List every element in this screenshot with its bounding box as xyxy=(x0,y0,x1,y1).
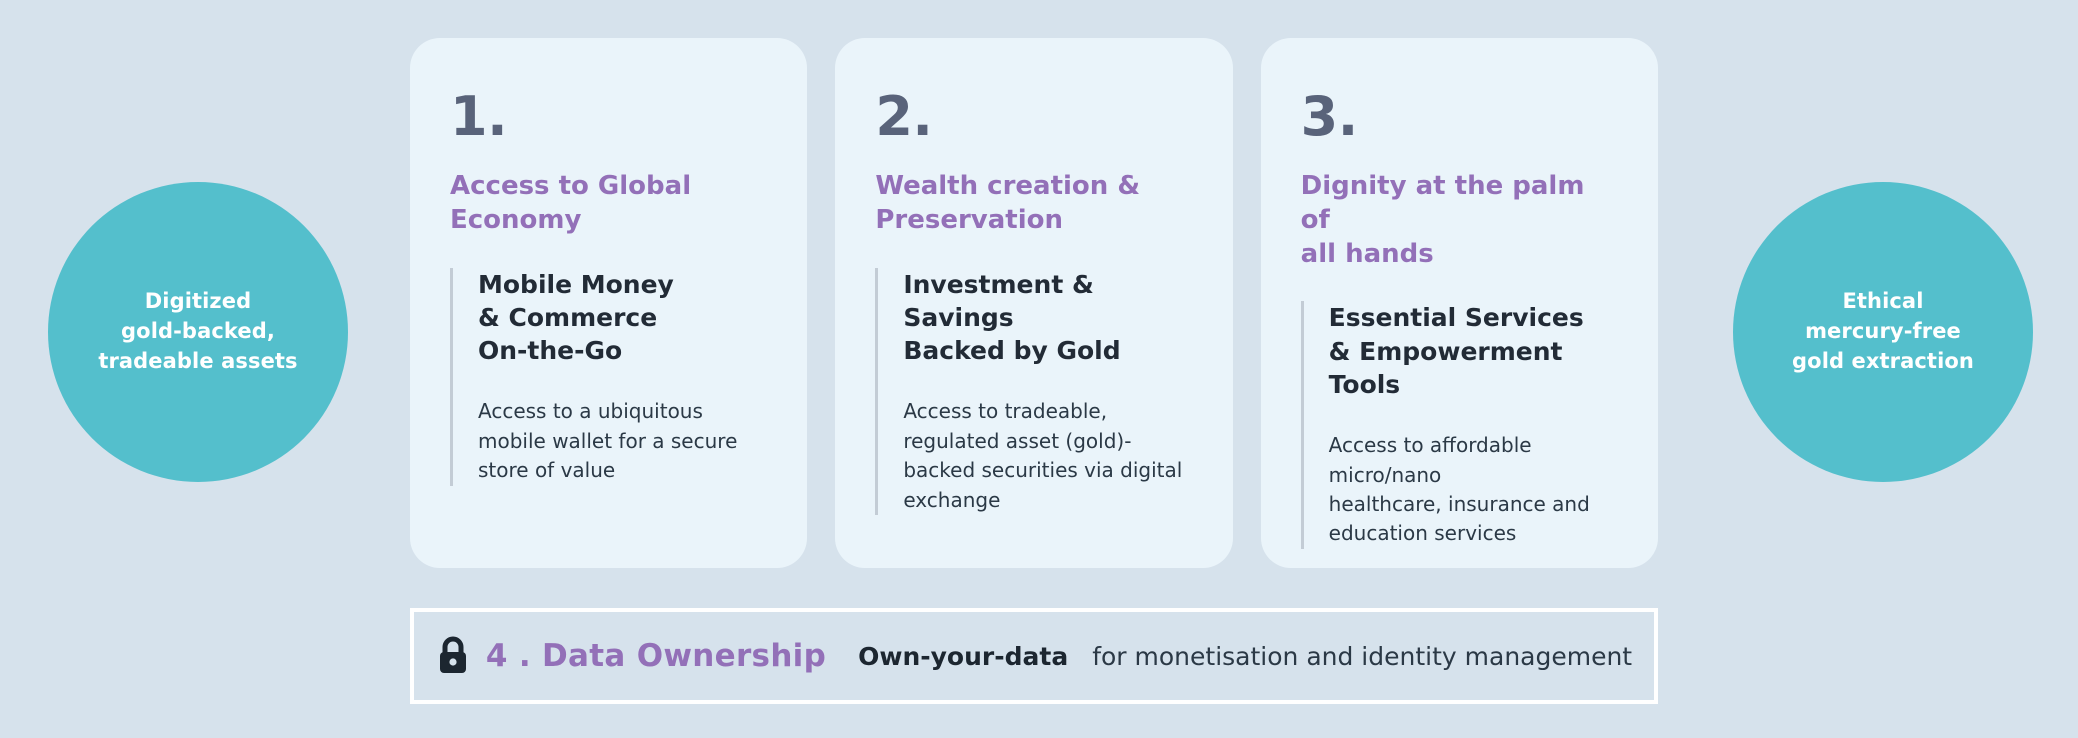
card-3-heading: Dignity at the palm of all hands xyxy=(1301,170,1618,271)
pillar-card-1: 1. Access to Global Economy Mobile Money… xyxy=(410,38,807,568)
card-1-number: 1. xyxy=(450,90,767,144)
card-2-text: Access to tradeable, regulated asset (go… xyxy=(903,397,1192,515)
card-1-body: Mobile Money & Commerce On-the-Go Access… xyxy=(450,268,767,486)
card-3-number: 3. xyxy=(1301,90,1618,144)
card-2-body: Investment & Savings Backed by Gold Acce… xyxy=(875,268,1192,515)
pillar-card-3: 3. Dignity at the palm of all hands Esse… xyxy=(1261,38,1658,568)
card-2-heading: Wealth creation & Preservation xyxy=(875,170,1192,238)
digitized-gold-circle: Digitized gold-backed, tradeable assets xyxy=(48,182,348,482)
card-1-heading: Access to Global Economy xyxy=(450,170,767,238)
data-ownership-number: 4 . Data Ownership xyxy=(486,638,826,674)
ethical-extraction-circle: Ethical mercury-free gold extraction xyxy=(1733,182,2033,482)
card-1-subtitle: Mobile Money & Commerce On-the-Go xyxy=(478,268,767,368)
pillar-cards-row: 1. Access to Global Economy Mobile Money… xyxy=(410,38,1658,568)
card-2-subtitle: Investment & Savings Backed by Gold xyxy=(903,268,1192,368)
card-1-text: Access to a ubiquitous mobile wallet for… xyxy=(478,397,767,485)
own-your-data-label: Own-your-data xyxy=(858,642,1068,671)
data-ownership-bar: 4 . Data Ownership Own-your-data for mon… xyxy=(410,608,1658,704)
data-ownership-description: for monetisation and identity management xyxy=(1092,642,1632,671)
lock-icon xyxy=(436,636,470,676)
card-2-number: 2. xyxy=(875,90,1192,144)
card-3-subtitle: Essential Services & Empowerment Tools xyxy=(1329,301,1618,401)
card-3-body: Essential Services & Empowerment Tools A… xyxy=(1301,301,1618,548)
card-3-text: Access to affordable micro/nano healthca… xyxy=(1329,431,1618,549)
pillar-card-2: 2. Wealth creation & Preservation Invest… xyxy=(835,38,1232,568)
digitized-gold-circle-text: Digitized gold-backed, tradeable assets xyxy=(98,287,297,376)
ethical-extraction-circle-text: Ethical mercury-free gold extraction xyxy=(1792,287,1974,376)
